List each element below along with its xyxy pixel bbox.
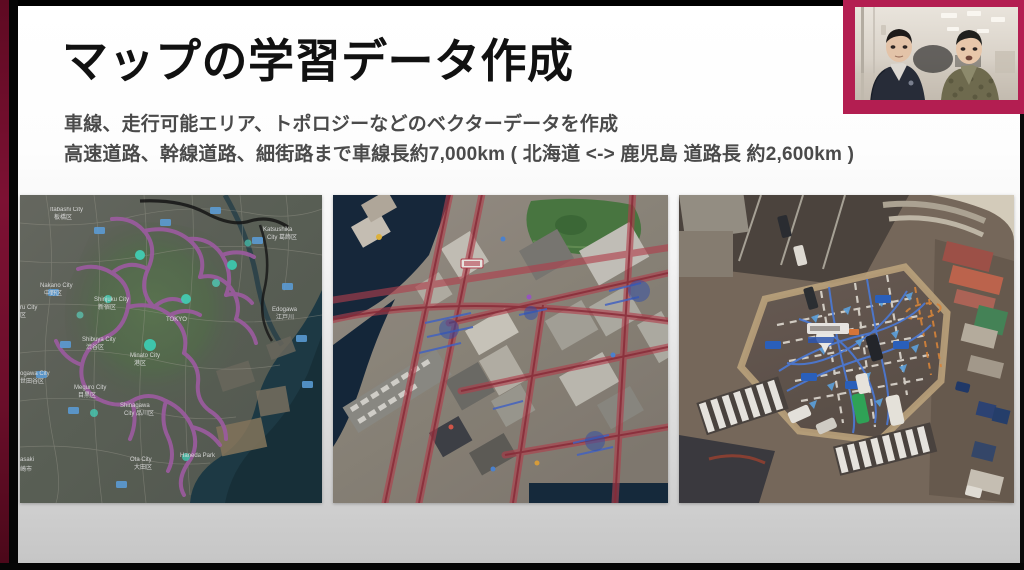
intersection-topology-art — [679, 195, 1014, 503]
subtitle-line-2: 高速道路、幹線道路、細街路まで車線長約7,000km ( 北海道 <-> 鹿児島… — [64, 140, 994, 170]
intersection-topology-image — [679, 195, 1014, 503]
map-creation-area-image: Itabashi City 板橋区 Katsushika City 葛飾区 Na… — [20, 195, 322, 503]
subtitle-line-1: 車線、走行可能エリア、トポロジーなどのベクターデータを作成 — [64, 110, 994, 140]
vector-map-image — [333, 195, 668, 503]
webcam-video-feed — [855, 7, 1018, 100]
page-title: マップの学習データ作成 — [62, 32, 574, 90]
vector-map-art — [333, 195, 668, 503]
panel-vector-map[interactable] — [333, 195, 668, 503]
bottom-letterbox — [0, 563, 1024, 570]
presenters-video-art — [855, 7, 1018, 100]
image-panel-row: Itabashi City 板橋区 Katsushika City 葛飾区 Na… — [18, 195, 1020, 515]
panel-intersection-topology[interactable] — [679, 195, 1014, 503]
left-edge-accent-bar — [0, 0, 9, 570]
tokyo-area-map-art: Itabashi City 板橋区 Katsushika City 葛飾区 Na… — [20, 195, 322, 503]
left-edge-letterbox — [9, 0, 18, 570]
panel-map-creation-area[interactable]: Itabashi City 板橋区 Katsushika City 葛飾区 Na… — [20, 195, 322, 503]
webcam-overlay[interactable] — [843, 0, 1024, 114]
screen-capture: マップの学習データ作成 車線、走行可能エリア、トポロジーなどのベクターデータを作… — [0, 0, 1024, 570]
subtitle-block: 車線、走行可能エリア、トポロジーなどのベクターデータを作成 高速道路、幹線道路、… — [64, 110, 994, 170]
